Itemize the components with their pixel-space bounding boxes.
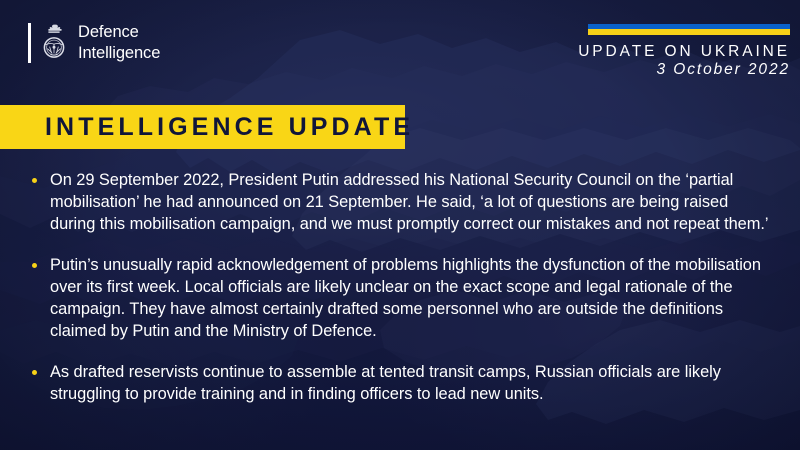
bullet-dot-icon — [32, 178, 37, 183]
ukraine-flag-bar-icon — [588, 24, 790, 35]
defence-intelligence-logo: Defence Intelligence — [28, 20, 160, 66]
bullet-text: As drafted reservists continue to assemb… — [50, 362, 772, 406]
bullet-dot-icon — [32, 263, 37, 268]
intelligence-update-slide: Defence Intelligence UPDATE ON UKRAINE 3… — [0, 0, 800, 450]
flag-yellow-stripe — [588, 29, 790, 35]
list-item: As drafted reservists continue to assemb… — [28, 362, 772, 406]
banner-label: INTELLIGENCE UPDATE — [0, 113, 414, 142]
vertical-bar-icon — [28, 23, 31, 63]
bullet-text: On 29 September 2022, President Putin ad… — [50, 170, 772, 236]
header-title: UPDATE ON UKRAINE — [470, 44, 790, 60]
bullet-text: Putin’s unusually rapid acknowledgement … — [50, 255, 772, 343]
logo-line-2: Intelligence — [78, 43, 160, 64]
list-item: Putin’s unusually rapid acknowledgement … — [28, 255, 772, 343]
logo-line-1: Defence — [78, 22, 160, 43]
list-item: On 29 September 2022, President Putin ad… — [28, 170, 772, 236]
bullet-dot-icon — [32, 370, 37, 375]
header-right-block: UPDATE ON UKRAINE 3 October 2022 — [470, 44, 790, 80]
intelligence-update-banner: INTELLIGENCE UPDATE — [0, 105, 405, 149]
header-date: 3 October 2022 — [470, 61, 790, 80]
bullet-list: On 29 September 2022, President Putin ad… — [28, 170, 772, 406]
mod-crest-icon — [39, 22, 69, 64]
logo-wordmark: Defence Intelligence — [78, 22, 160, 64]
